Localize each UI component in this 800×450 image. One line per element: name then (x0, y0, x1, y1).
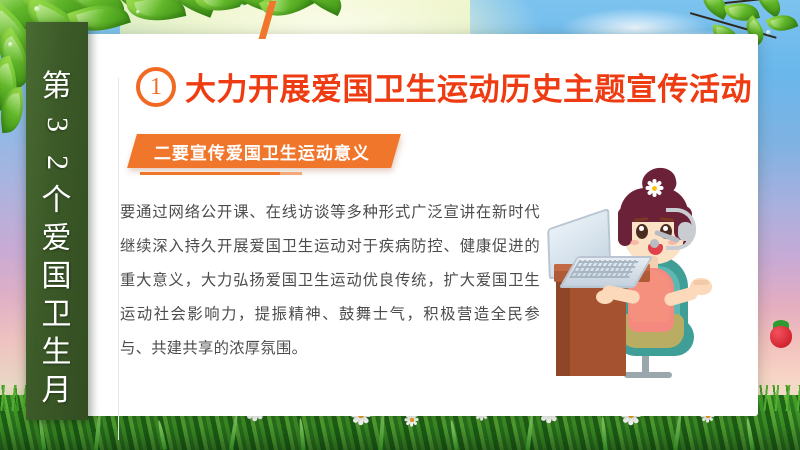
strawberry-icon (768, 318, 794, 348)
hand-left (596, 290, 614, 304)
sidebar-char-8: 月 (26, 372, 88, 410)
chair-foot (624, 372, 672, 378)
sidebar-char-5: 国 (26, 258, 88, 296)
title-text: 大力开展爱国卫生运动历史主题宣传活动 (185, 64, 752, 109)
subtitle-text: 二要宣传爱国卫生运动意义 (154, 139, 370, 164)
water-droplet-icon (766, 30, 771, 35)
subtitle-ribbon: 二要宣传爱国卫生运动意义 (132, 134, 396, 170)
hand-right (690, 278, 712, 295)
sidebar-char-2: 2 (38, 132, 76, 194)
water-droplet-icon (8, 42, 13, 47)
sidebar-banner: 第 3 2 个 爱 国 卫 生 月 (26, 22, 88, 420)
subtitle-underline (140, 172, 280, 175)
body-paragraph: 要通过网络公开课、在线访谈等多种形式广泛宣讲在新时代继续深入持久开展爱国卫生运动… (120, 196, 540, 366)
sidebar-char-4: 爱 (26, 220, 88, 258)
strawberry-body-icon (770, 326, 792, 348)
hair-daisy-icon (644, 178, 664, 198)
cheek-left (630, 240, 639, 245)
sidebar-char-6: 卫 (26, 296, 88, 334)
sidebar-banner-text: 第 3 2 个 爱 国 卫 生 月 (26, 68, 88, 410)
eye-left (636, 224, 648, 239)
slide: 第 3 2 个 爱 国 卫 生 月 1 大力开展爱国卫生运动历史主题宣传活动 二… (0, 0, 800, 450)
headset-mic-tip-icon (650, 239, 659, 248)
title-number-badge: 1 (136, 67, 176, 107)
sidebar-char-7: 生 (26, 334, 88, 372)
subtitle-ribbon-shape: 二要宣传爱国卫生运动意义 (127, 134, 401, 168)
illustration-woman-at-laptop (520, 160, 720, 380)
water-droplet-icon (34, 6, 40, 12)
water-droplet-icon (240, 4, 245, 9)
water-droplet-icon (136, 10, 140, 14)
desk-side (556, 280, 570, 376)
headset-earpiece-icon (678, 222, 693, 241)
page-title: 1 大力开展爱国卫生运动历史主题宣传活动 (136, 64, 752, 109)
laptop-keyboard (569, 260, 639, 278)
subtitle-underline-tail (280, 172, 302, 175)
title-number: 1 (150, 75, 162, 99)
